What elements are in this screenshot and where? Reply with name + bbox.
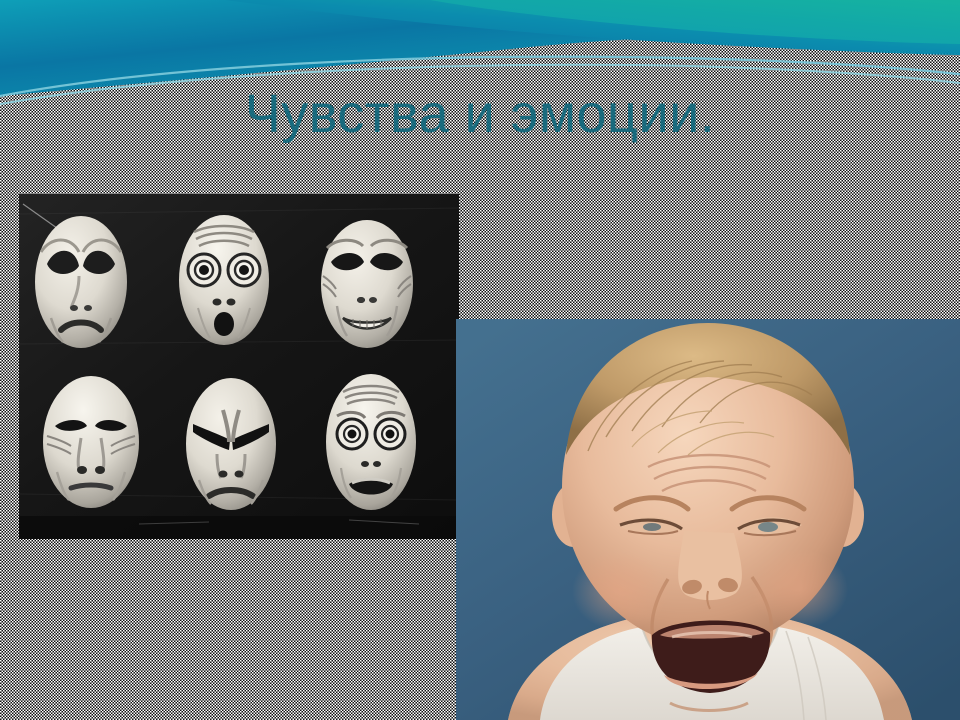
mask-fear [326,374,416,510]
crying-baby-photo [456,319,960,720]
mask-disgust [43,376,139,508]
masks-illustration [19,194,459,539]
presentation-slide: Чувства и эмоции. [0,0,960,720]
mask-happy [321,220,413,348]
mask-sad [35,216,127,348]
baby-illustration [456,319,960,720]
mask-surprised [179,215,269,345]
emotion-masks-photo [19,194,459,539]
mask-angry [186,378,276,510]
slide-title: Чувства и эмоции. [0,86,960,143]
